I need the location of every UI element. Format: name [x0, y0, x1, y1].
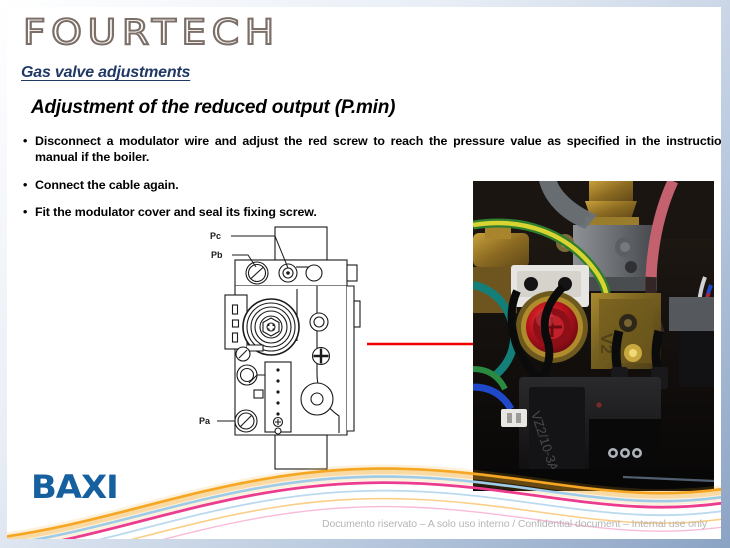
confidentiality-note: Documento riservato – A solo uso interno… [322, 518, 707, 530]
gas-valve-diagram: Pc Pb Pa [199, 223, 389, 473]
list-item: • Disconnect a modulator wire and adjust… [23, 133, 721, 166]
fourtech-logo: FOURTECH [23, 13, 280, 53]
baxi-logo: BAXI [31, 468, 118, 506]
page-title: Adjustment of the reduced output (P.min) [31, 97, 395, 119]
slide: FOURTECH Gas valve adjustments Adjustmen… [0, 0, 730, 548]
list-item-text: Connect the cable again. [35, 178, 179, 192]
bullet-icon: • [23, 133, 27, 149]
section-title: Gas valve adjustments [21, 64, 190, 82]
list-item-text: Fit the modulator cover and seal its fix… [35, 205, 317, 219]
list-item-text: Disconnect a modulator wire and adjust t… [35, 134, 721, 164]
diagram-label-pa: Pa [199, 416, 211, 426]
diagram-label-pb: Pb [211, 250, 223, 260]
diagram-label-pc: Pc [210, 231, 221, 241]
bullet-icon: • [23, 204, 27, 220]
gas-valve-photo: V2 VZ2/10-3AC [473, 181, 714, 491]
slide-canvas: FOURTECH Gas valve adjustments Adjustmen… [7, 7, 721, 539]
bullet-icon: • [23, 177, 27, 193]
